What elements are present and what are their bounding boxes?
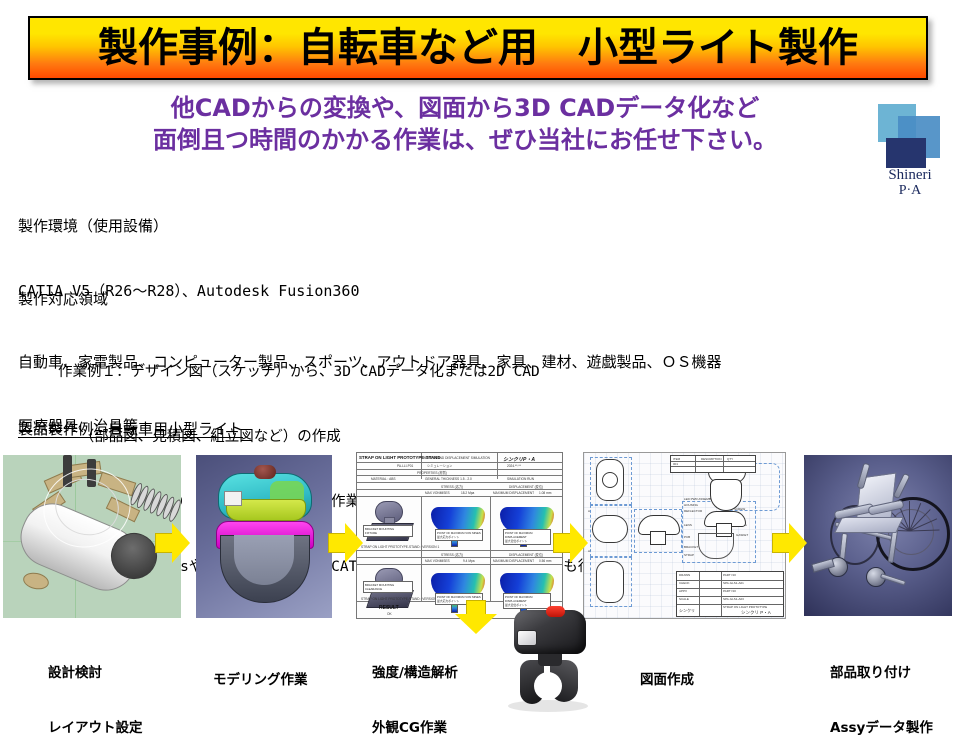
title-block-row-2: APPV	[679, 589, 687, 593]
caption-step-3: 強度/構造解析 外観CG作業	[372, 628, 458, 756]
drawing-title-block: DRAWN CHECK APPV SCALE PART NO SPA-GLS1-…	[676, 571, 784, 617]
title-block-row-3: SCALE	[679, 597, 689, 601]
logo-square-dark-icon	[886, 138, 926, 168]
workflow-image-drawing: A A' LED PWR ASSEMBLY HOUSING REFLECTOR …	[583, 452, 786, 619]
fea-col-stress: STRESS (応力)	[441, 484, 463, 489]
arrow-right-1-icon	[155, 523, 189, 563]
fea-subtitle: STRESS AND DISPLACEMENT SIMULATION	[424, 456, 490, 460]
fea-row-label-2: GENERAL THICKNESS 1.5 - 2.0	[425, 477, 472, 481]
product-clamp-opening	[534, 672, 562, 700]
part-code-1: SPA-GLS1-A03	[723, 597, 744, 601]
shell-lens	[224, 491, 242, 506]
product-lens	[517, 630, 537, 646]
caption-step-3-line-2: 外観CG作業	[372, 719, 458, 737]
product-shadow	[508, 700, 588, 712]
workflow-image-modeling	[196, 455, 332, 618]
logo-name: Shineri P·A	[868, 168, 952, 198]
caption-step-5-line-2: Assyデータ製作	[830, 719, 933, 737]
arrow-right-4-icon	[772, 523, 806, 563]
title-block-row-0: DRAWN	[679, 573, 690, 577]
drawing-part-title: STRAP ON LIGHT PROTOTYPE	[723, 605, 767, 609]
logo-name-sub: P·A	[868, 184, 952, 199]
caption-step-3-line-1: 強度/構造解析	[372, 664, 458, 682]
title-block-row-1: CHECK	[679, 581, 690, 585]
product-button	[546, 606, 565, 617]
caption-step-4: 図面作成	[640, 635, 694, 708]
drawing-view-front	[592, 515, 628, 543]
caption-step-5-line-1: 部品取り付け	[830, 664, 933, 682]
fea-row-label-0: PROPERTIES (材質)	[417, 470, 447, 475]
workflow-image-fea-report: STRAP ON LIGHT PROTOTYPE-STAND STRESS AN…	[356, 452, 563, 619]
scope-heading: 製作対応領域	[18, 289, 722, 310]
arrow-right-2-icon	[328, 523, 362, 563]
drawing-view-bottom	[596, 561, 624, 603]
page-title: 製作事例：自転車など用 小型ライト製作	[98, 28, 858, 68]
subtitle-block: 他CADからの変換や、図面から3D CADデータ化など 面倒且つ時間のかかる作業…	[70, 92, 860, 157]
fea-row-label-1: MATERIAL : ABS	[371, 477, 395, 481]
wheelchair-seat	[834, 517, 904, 533]
caption-step-4-line-1: 図面作成	[640, 671, 694, 689]
work-example-1-line-1: 作業例１：デザイン図（スケッチ）から、3D CADデータ化または2D CAD	[58, 362, 649, 384]
subtitle-line-1: 他CADからの変換や、図面から3D CADデータ化など	[171, 94, 759, 122]
drawing-company: シンクリ P・A	[741, 610, 771, 616]
caption-step-1-line-2: レイアウト設定	[48, 719, 143, 737]
fea-company: シンクリP・A	[503, 456, 535, 463]
caption-step-5: 部品取り付け Assyデータ製作	[830, 628, 933, 756]
caption-step-1-line-1: 設計検討	[48, 664, 143, 682]
product-photo-bike-light	[498, 604, 603, 716]
arrow-down-icon	[455, 600, 497, 640]
fin-6	[22, 570, 51, 591]
caption-step-1: 設計検討 レイアウト設定	[48, 628, 143, 756]
fea-result-value: OK	[387, 612, 392, 616]
logo-name-main: Shineri	[888, 167, 931, 183]
title-banner: 製作事例：自転車など用 小型ライト製作	[28, 16, 928, 80]
caption-step-2: モデリング作業	[213, 635, 308, 708]
fea-result-label: RESULT	[379, 605, 399, 611]
fea-col-disp: DISPLACEMENT (変位)	[509, 484, 543, 489]
workflow-image-assembly	[804, 455, 952, 616]
arrow-right-3-icon	[553, 523, 587, 563]
drawing-revision-block: ITEM DESCRIPTION QTY 001	[670, 455, 756, 473]
drawing-view-side	[636, 515, 680, 545]
fea-row-label-3: SIMULATION RUN	[507, 477, 534, 481]
environment-heading: 製作環境（使用設備）	[18, 216, 360, 238]
drawing-view-top	[596, 459, 624, 501]
company-logo: Shineri P·A	[868, 100, 952, 200]
shell-button	[254, 465, 276, 479]
subtitle-line-2: 面倒且つ時間のかかる作業は、ぜひ当社にお任せ下さい。	[70, 124, 860, 156]
caption-step-2-line-1: モデリング作業	[213, 671, 308, 689]
product-example-label: 製品製作例：自転車用小型ライト	[18, 418, 243, 439]
part-code-0: SPA-GLS1-A01	[723, 581, 744, 585]
